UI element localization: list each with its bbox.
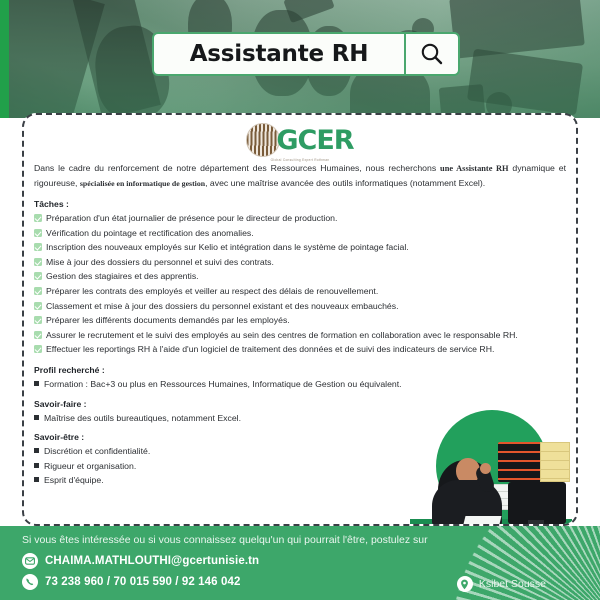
footer-location-value: Ksibet Sousse xyxy=(479,578,546,590)
square-bullet-icon xyxy=(34,381,39,386)
task-text: Gestion des stagiaires et des apprentis. xyxy=(46,270,566,283)
office-worker-illustration xyxy=(404,410,572,526)
intro-bold-speciality: spécialisée en informatique de gestion xyxy=(80,179,205,188)
tasks-title: Tâches : xyxy=(34,199,566,209)
offer-card: GCER Global Consulting Expert Rothman Da… xyxy=(22,113,578,526)
search-button[interactable] xyxy=(404,32,460,76)
profil-text: Formation : Bac+3 ou plus en Ressources … xyxy=(44,378,402,391)
task-text: Mise à jour des dossiers du personnel et… xyxy=(46,256,566,269)
square-bullet-icon xyxy=(34,477,39,482)
check-icon xyxy=(34,214,42,222)
intro-paragraph: Dans le cadre du renforcement de notre d… xyxy=(34,161,566,190)
task-item: Gestion des stagiaires et des apprentis. xyxy=(34,270,566,283)
check-icon xyxy=(34,258,42,266)
intro-bold-role: une Assistante RH xyxy=(440,164,509,173)
search-input-value: Assistante RH xyxy=(190,41,369,67)
illustration-monitor xyxy=(508,482,566,524)
footer-location-row: Ksibet Sousse xyxy=(457,576,546,592)
footer-phone-value: 73 238 960 / 70 015 590 / 92 146 042 xyxy=(45,576,240,588)
savoir-faire-text: Maîtrise des outils bureautiques, notamm… xyxy=(44,412,241,425)
task-item: Effectuer les reportings RH à l'aide d'u… xyxy=(34,343,566,356)
search-icon xyxy=(419,41,445,67)
envelope-icon xyxy=(22,553,38,569)
check-icon xyxy=(34,316,42,324)
task-item: Préparation d'un état journalier de prés… xyxy=(34,212,566,225)
task-text: Effectuer les reportings RH à l'aide d'u… xyxy=(46,343,566,356)
check-icon xyxy=(34,229,42,237)
job-offer-poster: Assistante RH GCER Global Consulting Exp… xyxy=(0,0,600,600)
task-text: Préparer les contrats des employés et ve… xyxy=(46,285,566,298)
savoir-etre-text: Rigueur et organisation. xyxy=(44,460,136,473)
globe-icon xyxy=(246,123,280,157)
square-bullet-icon xyxy=(34,448,39,453)
intro-text-1: Dans le cadre du renforcement de notre d… xyxy=(34,163,440,173)
profil-title: Profil recherché : xyxy=(34,365,566,375)
check-icon xyxy=(34,272,42,280)
savoir-faire-title: Savoir-faire : xyxy=(34,399,566,409)
footer-email-value: CHAIMA.MATHLOUTHI@gcertunisie.tn xyxy=(45,555,259,567)
profil-list: Formation : Bac+3 ou plus en Ressources … xyxy=(34,378,566,391)
illustration-notice-board xyxy=(540,442,570,482)
task-text: Classement et mise à jour des dossiers d… xyxy=(46,300,566,313)
task-text: Vérification du pointage et rectificatio… xyxy=(46,227,566,240)
savoir-etre-text: Discrétion et confidentialité. xyxy=(44,445,150,458)
search-bar[interactable]: Assistante RH xyxy=(152,32,460,76)
footer-phone-row[interactable]: 73 238 960 / 70 015 590 / 92 146 042 xyxy=(22,574,240,590)
illustration-paper xyxy=(463,516,502,526)
savoir-etre-text: Esprit d'équipe. xyxy=(44,474,104,487)
task-item: Préparer les contrats des employés et ve… xyxy=(34,285,566,298)
task-item: Classement et mise à jour des dossiers d… xyxy=(34,300,566,313)
brand-logo: GCER Global Consulting Expert Rothman xyxy=(24,123,576,162)
task-item: Préparer les différents documents demand… xyxy=(34,314,566,327)
task-text: Préparation d'un état journalier de prés… xyxy=(46,212,566,225)
illustration-monitor-stand xyxy=(528,520,544,526)
task-text: Inscription des nouveaux employés sur Ke… xyxy=(46,241,566,254)
check-icon xyxy=(34,331,42,339)
logo-lockup: GCER xyxy=(246,123,353,157)
profil-item: Formation : Bac+3 ou plus en Ressources … xyxy=(34,378,566,391)
logo-wordmark: GCER xyxy=(276,127,353,154)
task-item: Inscription des nouveaux employés sur Ke… xyxy=(34,241,566,254)
footer-cta-text: Si vous êtes intéressée ou si vous conna… xyxy=(22,534,428,546)
task-item: Mise à jour des dossiers du personnel et… xyxy=(34,256,566,269)
illustration-person-hand xyxy=(480,463,491,474)
check-icon xyxy=(34,302,42,310)
map-pin-icon xyxy=(457,576,473,592)
illustration-wall-screen xyxy=(498,442,542,482)
task-item: Assurer le recrutement et le suivi des e… xyxy=(34,329,566,342)
square-bullet-icon xyxy=(34,415,39,420)
search-input[interactable]: Assistante RH xyxy=(152,32,404,76)
square-bullet-icon xyxy=(34,463,39,468)
phone-icon xyxy=(22,574,38,590)
task-text: Assurer le recrutement et le suivi des e… xyxy=(46,329,566,342)
check-icon xyxy=(34,243,42,251)
task-text: Préparer les différents documents demand… xyxy=(46,314,566,327)
contact-footer: Si vous êtes intéressée ou si vous conna… xyxy=(0,526,600,600)
task-item: Vérification du pointage et rectificatio… xyxy=(34,227,566,240)
check-icon xyxy=(34,287,42,295)
tasks-list: Préparation d'un état journalier de prés… xyxy=(34,212,566,356)
footer-email-row[interactable]: CHAIMA.MATHLOUTHI@gcertunisie.tn xyxy=(22,553,259,569)
check-icon xyxy=(34,345,42,353)
accent-left-strip xyxy=(0,0,9,118)
intro-text-3: , avec une maîtrise avancée des outils i… xyxy=(205,178,485,188)
